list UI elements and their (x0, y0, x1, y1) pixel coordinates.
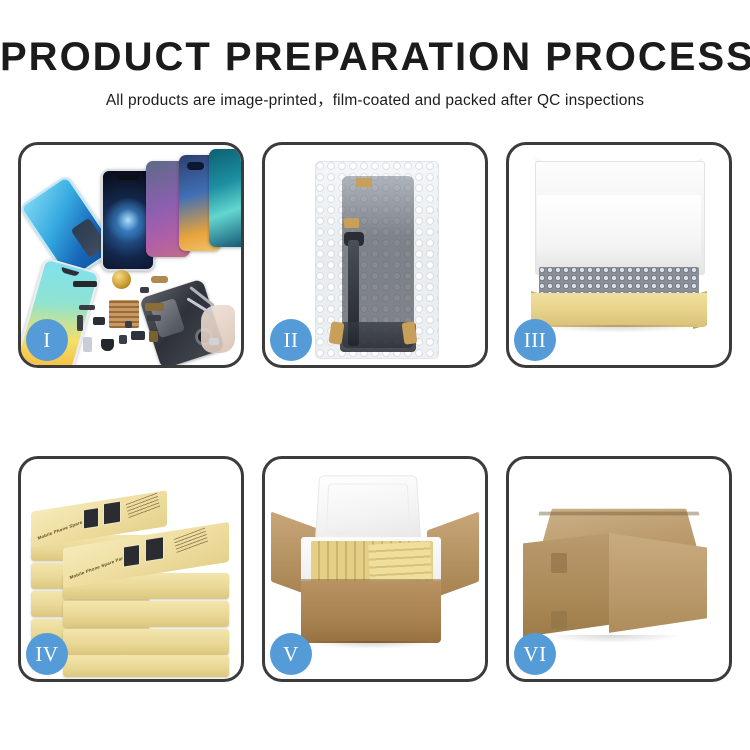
tape-icon (356, 178, 372, 187)
step-badge-5: V (270, 633, 312, 675)
phone-screen-teal-icon (209, 149, 241, 247)
process-step-4: Mobile Phone Spare Parts Mobile Phone Sp… (18, 456, 244, 682)
screen-print-icon (83, 507, 99, 530)
bubble-wrap-bag-icon (315, 161, 439, 359)
screen-print-icon (103, 501, 121, 526)
part-icon (145, 303, 164, 311)
carton-left-face (523, 533, 611, 637)
part-icon (101, 339, 114, 351)
drop-shadow (539, 325, 699, 333)
carton-tape-icon (551, 553, 567, 573)
carton-tape-icon (551, 611, 567, 629)
carton-seam (538, 512, 699, 516)
header: PRODUCT PREPARATION PROCESS All products… (0, 34, 750, 110)
kraft-boxes-inside-icon (368, 541, 432, 582)
page-subtitle: All products are image-printed，film-coat… (0, 88, 750, 110)
stacked-box (63, 601, 229, 627)
box-spec-text-block (126, 493, 161, 520)
foam-lid-icon (315, 475, 422, 543)
process-step-5: V (262, 456, 488, 682)
part-icon (147, 315, 161, 321)
drop-shadow (543, 635, 683, 643)
part-icon (119, 335, 127, 344)
step-badge-2: II (270, 319, 312, 361)
process-step-6: VI (506, 456, 732, 682)
infographic-page: PRODUCT PREPARATION PROCESS All products… (0, 0, 750, 750)
screen-print-icon (123, 544, 140, 568)
part-icon (140, 287, 149, 293)
process-step-1: I (18, 142, 244, 368)
step-badge-3: III (514, 319, 556, 361)
step-badge-1: I (26, 319, 68, 361)
box-spec-text-block (174, 528, 209, 555)
part-icon (77, 315, 83, 331)
box-label-text: Mobile Phone Spare Parts (69, 554, 128, 580)
process-grid: I II (18, 142, 732, 698)
foam-sheet-icon (537, 195, 701, 267)
part-icon (79, 305, 95, 310)
part-icon (93, 317, 105, 325)
speaker-part-icon (112, 270, 131, 289)
part-icon (151, 276, 168, 283)
part-icon (131, 331, 145, 340)
drop-shadow (309, 641, 433, 649)
stacked-box (63, 655, 229, 677)
page-title: PRODUCT PREPARATION PROCESS (0, 34, 750, 80)
screen-print-icon (145, 536, 164, 562)
screw-plate-icon (109, 300, 139, 328)
tweezers-icon (183, 295, 223, 339)
process-step-3: III (506, 142, 732, 368)
process-step-2: II (262, 142, 488, 368)
part-icon (73, 281, 97, 287)
part-icon (83, 337, 92, 352)
part-icon (125, 321, 132, 328)
part-icon (149, 331, 158, 342)
carton-right-face (609, 533, 707, 637)
part-icon (209, 338, 219, 345)
carton-front-icon (301, 581, 441, 643)
tape-icon (344, 218, 359, 228)
stacked-box (63, 629, 229, 655)
kraft-box-base-icon (531, 293, 707, 327)
step-badge-6: VI (514, 633, 556, 675)
step-badge-4: IV (26, 633, 68, 675)
